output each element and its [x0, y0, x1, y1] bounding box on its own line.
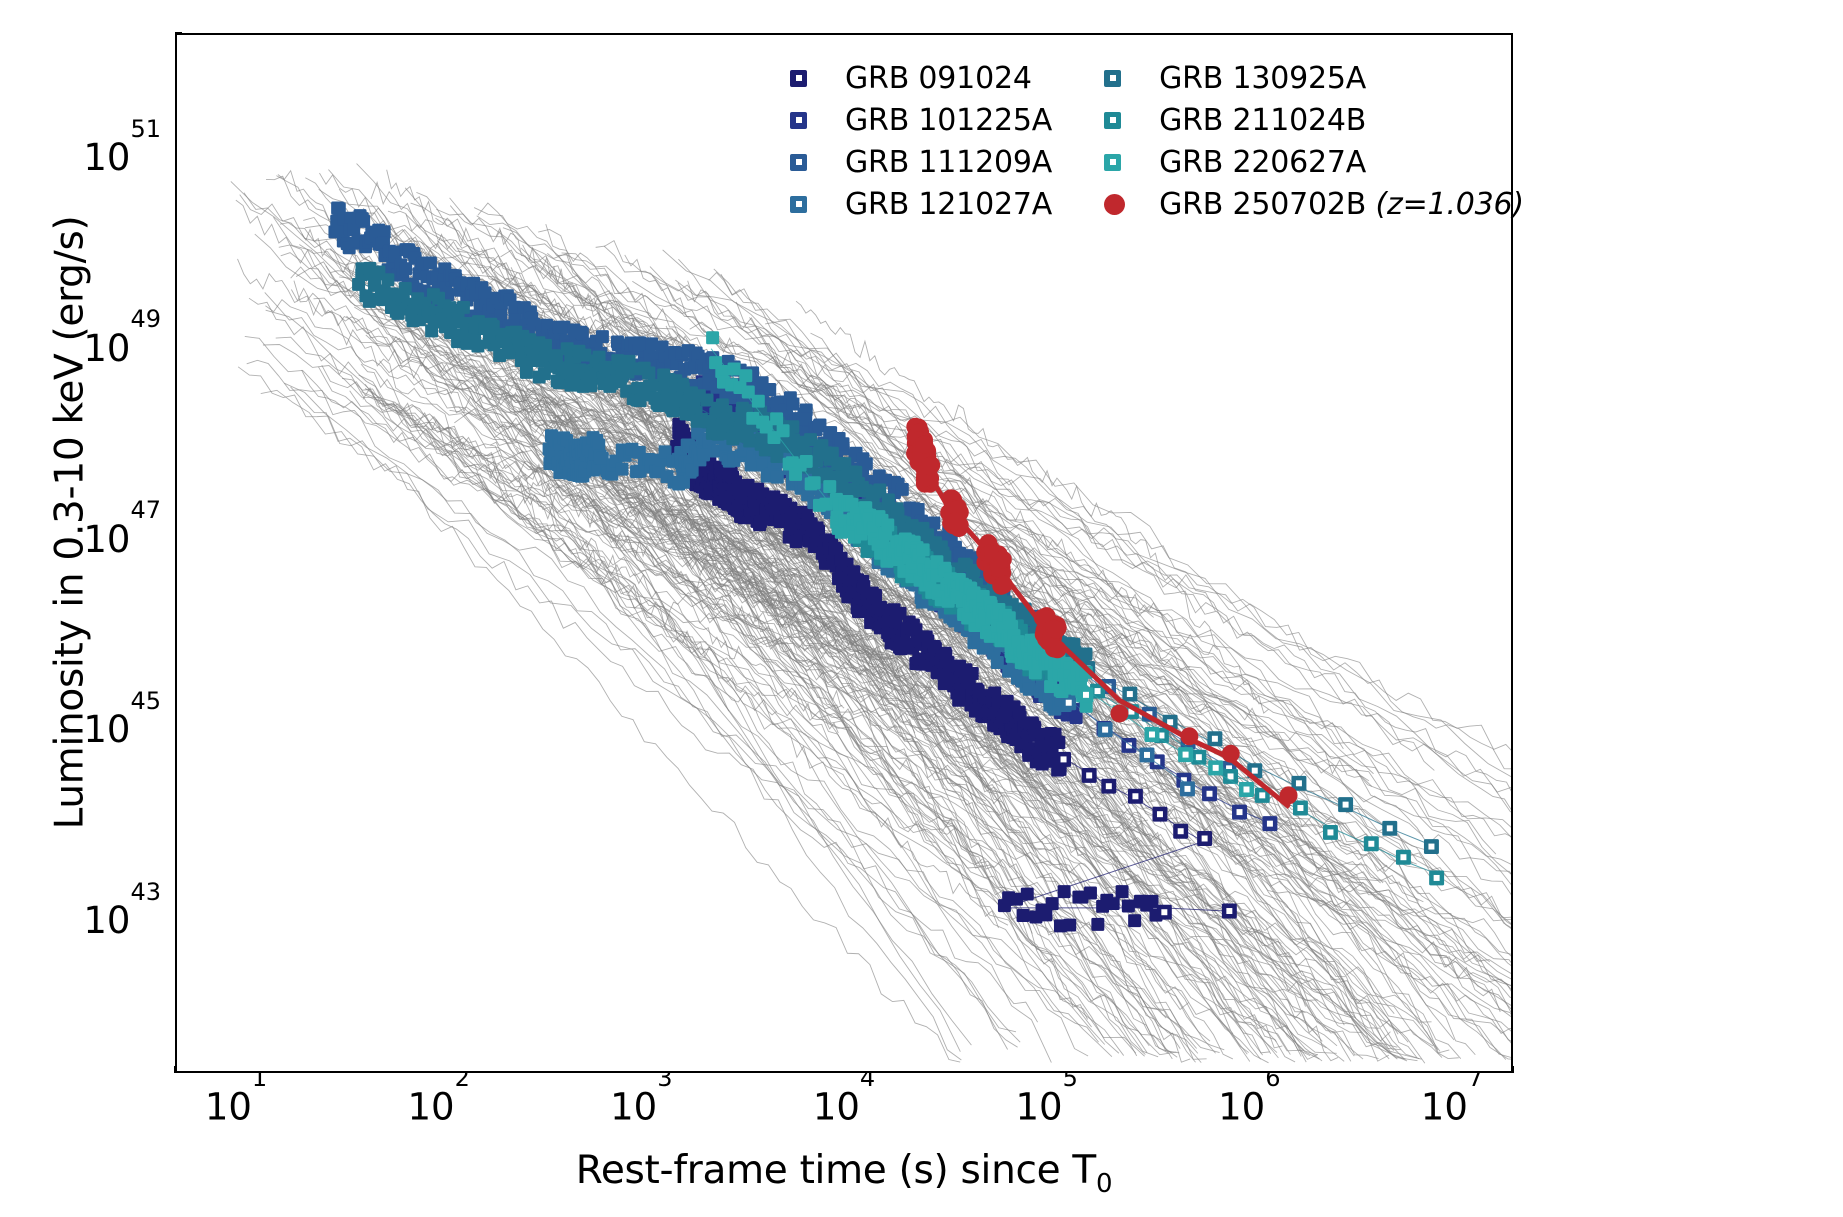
data-point [917, 543, 930, 556]
data-point [1017, 909, 1030, 922]
data-point-core [1297, 805, 1303, 811]
legend-entry-grb-220627a[interactable]: GRB 220627A [1104, 141, 1524, 183]
data-point [1222, 745, 1240, 763]
legend-square-marker-icon [790, 154, 807, 171]
x-tick-label-2: 103 [610, 1084, 672, 1128]
data-point-core [1207, 791, 1213, 797]
data-point-core [1237, 809, 1243, 815]
x-axis-label-subscript: 0 [1096, 1169, 1112, 1199]
y-tick-label-1: 1049 [83, 326, 161, 370]
data-point [946, 513, 964, 531]
data-point-core [1428, 844, 1434, 850]
legend-label-grb-211024b: GRB 211024B [1159, 103, 1366, 138]
data-point-core [1343, 802, 1349, 808]
data-point [896, 483, 909, 496]
data-point [1052, 736, 1065, 749]
x-tick-label-0: 101 [205, 1084, 267, 1128]
data-point [1122, 900, 1135, 913]
data-point [399, 282, 412, 295]
background-lightcurve [265, 292, 1432, 1022]
data-point [479, 286, 492, 299]
data-point [378, 225, 391, 238]
data-point-core [1102, 727, 1108, 733]
legend-label-grb-130925a: GRB 130925A [1159, 61, 1366, 96]
data-point [642, 367, 655, 380]
legend-label-grb-091024: GRB 091024 [845, 61, 1032, 96]
data-point [596, 330, 609, 343]
legend-label-grb-111209a: GRB 111209A [845, 145, 1052, 180]
data-point [1084, 887, 1097, 900]
data-point [786, 398, 799, 411]
legend-entry-grb-111209a[interactable]: GRB 111209A [790, 141, 1052, 183]
data-point-core [1196, 754, 1202, 760]
legend-circle-marker-icon [1104, 194, 1125, 215]
data-point [1107, 897, 1120, 910]
data-point-core [1161, 909, 1167, 915]
x-axis-label-main: Rest-frame time (s) since T [576, 1148, 1096, 1193]
data-point-core [1149, 732, 1155, 738]
data-point [808, 476, 821, 489]
data-point [849, 466, 862, 479]
data-point [1128, 914, 1141, 927]
data-point [752, 395, 765, 408]
data-point-core [1228, 773, 1234, 779]
data-point [915, 436, 933, 454]
data-point-core [1086, 772, 1092, 778]
data-point [823, 480, 836, 493]
data-point-core [1244, 786, 1250, 792]
data-point-core [1212, 736, 1218, 742]
data-point [763, 383, 776, 396]
legend-square-marker-icon [790, 196, 807, 213]
legend: GRB 091024GRB 130925AGRB 101225AGRB 2110… [790, 57, 1524, 225]
data-point [995, 576, 1013, 594]
data-point [1039, 908, 1052, 921]
data-point [994, 551, 1012, 569]
data-point-core [1106, 783, 1112, 789]
data-point [1145, 895, 1158, 908]
data-point-core [1083, 692, 1089, 698]
legend-label-grb-250702b: GRB 250702B (z=1.036) [1159, 187, 1524, 222]
x-tick-label-5: 106 [1218, 1084, 1280, 1128]
data-point [1180, 727, 1198, 745]
data-point [1063, 919, 1076, 932]
x-tick-label-6: 107 [1421, 1084, 1483, 1128]
data-point [912, 503, 925, 516]
data-point [615, 463, 628, 476]
data-point-core [1127, 691, 1133, 697]
data-point [921, 457, 939, 475]
data-point [1021, 888, 1034, 901]
data-point-core [1252, 768, 1258, 774]
data-point-core [1157, 811, 1163, 817]
legend-entry-grb-091024[interactable]: GRB 091024 [790, 57, 1052, 99]
y-tick-label-0: 1051 [83, 135, 161, 179]
data-point-core [1387, 825, 1393, 831]
legend-label-grb-220627a: GRB 220627A [1159, 145, 1366, 180]
data-point [633, 338, 646, 351]
legend-entry-grb-121027a[interactable]: GRB 121027A [790, 183, 1052, 225]
data-point-core [1066, 700, 1072, 706]
x-axis-label: Rest-frame time (s) since T0 [175, 1148, 1513, 1199]
x-tick-label-4: 105 [1015, 1084, 1077, 1128]
data-point-core [1202, 836, 1208, 842]
data-point-core [1061, 756, 1067, 762]
legend-square-marker-icon [1104, 154, 1121, 171]
legend-square-marker-icon [1104, 112, 1121, 129]
data-point [381, 273, 394, 286]
data-point-core [1178, 828, 1184, 834]
data-point [771, 471, 784, 484]
legend-label-grb-121027a: GRB 121027A [845, 187, 1052, 222]
data-point [1091, 918, 1104, 931]
legend-square-marker-icon [790, 70, 807, 87]
data-point [770, 412, 783, 425]
legend-entry-grb-130925a[interactable]: GRB 130925A [1104, 57, 1524, 99]
x-tick-label-1: 102 [407, 1084, 469, 1128]
data-point [457, 301, 470, 314]
data-point-core [1327, 829, 1333, 835]
data-point-core [1144, 752, 1150, 758]
data-point [596, 452, 609, 465]
data-point [424, 256, 437, 269]
legend-entry-grb-250702b[interactable]: GRB 250702B (z=1.036) [1104, 183, 1524, 225]
legend-label-grb-101225a: GRB 101225A [845, 103, 1052, 138]
data-point [471, 340, 484, 353]
data-point-core [1167, 719, 1173, 725]
data-point-core [1095, 688, 1101, 694]
legend-square-marker-icon [1104, 70, 1121, 87]
y-tick-label-4: 1043 [83, 898, 161, 942]
data-point-core [1183, 752, 1189, 758]
data-point-core [1267, 821, 1273, 827]
data-point [706, 331, 719, 344]
data-point-core [1259, 792, 1265, 798]
data-point [1046, 897, 1059, 910]
data-point [991, 656, 1004, 669]
data-point [1070, 711, 1083, 724]
data-point [1116, 885, 1129, 898]
data-point-core [1226, 908, 1232, 914]
data-point-core [1296, 780, 1302, 786]
data-point [1023, 683, 1036, 696]
legend-entry-grb-101225a[interactable]: GRB 101225A [790, 99, 1052, 141]
data-point-core [1213, 765, 1219, 771]
data-point-core [1132, 793, 1138, 799]
data-point-core [1434, 875, 1440, 881]
data-point [1047, 621, 1065, 639]
data-point-core [1400, 854, 1406, 860]
data-point [800, 455, 813, 468]
data-point [520, 366, 533, 379]
data-point [1079, 648, 1092, 661]
data-point [881, 519, 894, 532]
data-point [578, 349, 591, 362]
figure-canvas: Luminosity in 0.3-10 keV (erg/s) Rest-fr… [0, 0, 1843, 1217]
y-tick-label-2: 1047 [83, 516, 161, 560]
data-point [728, 363, 741, 376]
data-point [869, 589, 882, 602]
data-point-core [1368, 841, 1374, 847]
data-point [1058, 885, 1071, 898]
data-point-core [1184, 786, 1190, 792]
legend-entry-grb-211024b[interactable]: GRB 211024B [1104, 99, 1524, 141]
y-tick-label-3: 1045 [83, 707, 161, 751]
data-point [966, 667, 979, 680]
data-point [777, 424, 790, 437]
legend-square-marker-icon [790, 112, 807, 129]
x-tick-label-3: 104 [813, 1084, 875, 1128]
data-point [739, 369, 752, 382]
data-point [1280, 786, 1298, 804]
data-point [1111, 705, 1129, 723]
